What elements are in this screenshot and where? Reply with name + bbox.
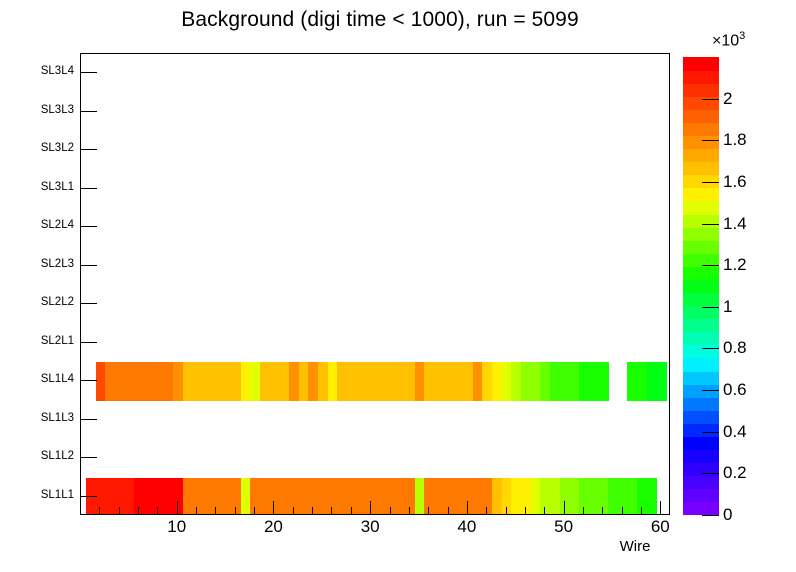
heatmap-cell (250, 362, 260, 401)
heatmap-cell (395, 362, 405, 401)
x-axis-tick (312, 507, 313, 515)
palette-label: 0.8 (723, 339, 747, 356)
palette-label: 1.4 (723, 215, 747, 232)
heatmap-cell (405, 362, 415, 401)
heatmap-cell (231, 362, 241, 401)
root-canvas: Background (digi time < 1000), run = 509… (0, 0, 796, 572)
y-axis-tick (80, 72, 97, 73)
heatmap-row-sl3l4 (81, 54, 669, 93)
x-axis-tick (564, 501, 565, 515)
heatmap-cell (550, 362, 560, 401)
heatmap-cell (279, 362, 289, 401)
y-axis-tick (80, 149, 97, 150)
palette-exponent-label: ×103 (712, 30, 745, 50)
palette-tick (702, 432, 719, 433)
heatmap-row-sl2l1 (81, 324, 669, 363)
x-axis-tick (177, 501, 178, 515)
x-axis-tick (273, 501, 274, 515)
palette-band (683, 279, 719, 293)
heatmap-cell (105, 362, 115, 401)
heatmap-cell (366, 478, 376, 515)
palette-band (683, 57, 719, 71)
palette-band (683, 436, 719, 450)
palette-band (683, 423, 719, 437)
palette-band (683, 227, 719, 241)
y-axis-label-sl2l1: SL2L1 (41, 336, 74, 348)
palette-tick (702, 307, 719, 308)
x-axis-tick (583, 507, 584, 515)
heatmap-cell (260, 478, 270, 515)
x-axis-tick (390, 507, 391, 515)
heatmap-row-sl1l4 (81, 362, 669, 401)
x-axis-tick (370, 501, 371, 515)
heatmap-cell (502, 362, 512, 401)
palette-tick (702, 265, 719, 266)
palette-band (683, 502, 719, 516)
heatmap-cell (618, 478, 628, 515)
palette-band (683, 371, 719, 385)
palette-exponent-power: 3 (739, 30, 745, 42)
heatmap-row-sl3l1 (81, 170, 669, 209)
heatmap-cell (347, 478, 357, 515)
heatmap-cell (647, 478, 657, 515)
palette-band (683, 188, 719, 202)
heatmap-cell (608, 478, 618, 515)
palette-band (683, 293, 719, 307)
heatmap-cell (531, 478, 541, 515)
heatmap-cell (163, 478, 173, 515)
palette-band (683, 489, 719, 503)
palette-tick (702, 390, 719, 391)
page-title: Background (digi time < 1000), run = 509… (0, 8, 760, 32)
y-axis-tick (80, 380, 97, 381)
x-axis-tick (138, 507, 139, 515)
heatmap-cell (299, 362, 309, 401)
palette-band (683, 332, 719, 346)
y-axis-tick (80, 303, 97, 304)
heatmap-cell (569, 362, 579, 401)
heatmap-cell (589, 478, 599, 515)
palette-band (683, 319, 719, 333)
heatmap-cell (511, 478, 521, 515)
x-axis-title: Wire (600, 538, 670, 555)
heatmap-cell (289, 478, 299, 515)
heatmap-cell (250, 478, 260, 515)
heatmap-cell (154, 478, 164, 515)
palette-exponent-base: ×10 (712, 32, 739, 49)
heatmap-cell (144, 478, 154, 515)
heatmap-cell (192, 362, 202, 401)
x-axis-label: 60 (640, 517, 680, 537)
heatmap-cell (154, 362, 164, 401)
heatmap-cell (115, 478, 125, 515)
heatmap-cell (434, 362, 444, 401)
palette-band (683, 201, 719, 215)
palette-tick (702, 99, 719, 100)
palette-band (683, 397, 719, 411)
heatmap-cell (337, 478, 347, 515)
heatmap-cell (212, 478, 222, 515)
heatmap-cell (444, 362, 454, 401)
y-axis-label-sl3l2: SL3L2 (41, 143, 74, 155)
x-axis-label: 50 (544, 517, 584, 537)
heatmap-cell (115, 362, 125, 401)
heatmap-cell (289, 362, 299, 401)
heatmap-cell (482, 478, 492, 515)
heatmap-cell (627, 478, 637, 515)
heatmap-cell (473, 362, 483, 401)
heatmap-cell (105, 478, 115, 515)
heatmap-cell (328, 362, 338, 401)
heatmap-cell (366, 362, 376, 401)
heatmap-cell (357, 478, 367, 515)
x-axis-label: 10 (157, 517, 197, 537)
y-axis-tick (80, 188, 97, 189)
x-axis-tick (157, 507, 158, 515)
heatmap-cell (347, 362, 357, 401)
heatmap-cell (482, 362, 492, 401)
heatmap-row-sl2l4 (81, 208, 669, 247)
x-axis-tick (119, 507, 120, 515)
x-axis-label: 20 (253, 517, 293, 537)
heatmap-cell (173, 478, 183, 515)
palette-tick (702, 182, 719, 183)
heatmap-cell (560, 362, 570, 401)
heatmap-cell (183, 362, 193, 401)
heatmap-cell (415, 478, 425, 515)
x-axis-tick (99, 507, 100, 515)
heatmap-cell (299, 478, 309, 515)
heatmap-row-sl2l2 (81, 285, 669, 324)
x-axis-label: 40 (447, 517, 487, 537)
heatmap-cell (434, 478, 444, 515)
heatmap-cell (424, 478, 434, 515)
heatmap-cell (202, 362, 212, 401)
heatmap-cell (260, 362, 270, 401)
heatmap-cell (531, 362, 541, 401)
x-axis-label: 30 (350, 517, 390, 537)
heatmap-cell (424, 362, 434, 401)
y-axis-label-sl2l2: SL2L2 (41, 297, 74, 309)
palette-label: 1.8 (723, 131, 747, 148)
heatmap-cell (221, 362, 231, 401)
y-axis-tick (80, 496, 97, 497)
palette-label: 1.6 (723, 173, 747, 190)
heatmap-cell (405, 478, 415, 515)
heatmap-cell (502, 478, 512, 515)
palette-band (683, 214, 719, 228)
palette-band (683, 358, 719, 372)
x-axis-tick (641, 507, 642, 515)
heatmap-area (81, 54, 669, 514)
heatmap-cell (173, 362, 183, 401)
palette-band (683, 149, 719, 163)
palette-label: 0 (723, 506, 732, 523)
heatmap-cell (444, 478, 454, 515)
plot-frame (80, 53, 670, 515)
y-axis-tick (80, 457, 97, 458)
palette-band (683, 83, 719, 97)
heatmap-cell (318, 362, 328, 401)
palette-tick (702, 348, 719, 349)
heatmap-cell (540, 478, 550, 515)
y-axis-label-sl2l3: SL2L3 (41, 259, 74, 271)
palette-label: 0.4 (723, 423, 747, 440)
color-palette-bar (683, 57, 719, 515)
heatmap-cell (96, 362, 106, 401)
heatmap-cell (328, 478, 338, 515)
heatmap-cell (492, 362, 502, 401)
heatmap-cell (241, 478, 251, 515)
y-axis-label-sl1l3: SL1L3 (41, 413, 74, 425)
heatmap-cell (521, 478, 531, 515)
palette-band (683, 450, 719, 464)
palette-band (683, 162, 719, 176)
heatmap-cell (627, 362, 637, 401)
palette-band (683, 122, 719, 136)
x-axis-tick (622, 507, 623, 515)
y-axis-tick (80, 111, 97, 112)
heatmap-cell (231, 478, 241, 515)
x-axis-tick (506, 507, 507, 515)
heatmap-cell (415, 362, 425, 401)
heatmap-row-sl1l2 (81, 439, 669, 478)
heatmap-cell (386, 362, 396, 401)
heatmap-cell (579, 478, 589, 515)
y-axis-label-sl2l4: SL2L4 (41, 220, 74, 232)
heatmap-cell (473, 478, 483, 515)
heatmap-cell (212, 362, 222, 401)
heatmap-row-sl1l1 (81, 478, 669, 515)
x-axis-tick (428, 507, 429, 515)
heatmap-cell (318, 478, 328, 515)
y-axis-tick (80, 342, 97, 343)
x-axis-tick (544, 507, 545, 515)
x-axis-tick (351, 507, 352, 515)
x-axis-tick (409, 507, 410, 515)
heatmap-row-sl3l2 (81, 131, 669, 170)
palette-tick (702, 515, 719, 516)
heatmap-cell (202, 478, 212, 515)
heatmap-cell (337, 362, 347, 401)
heatmap-cell (270, 362, 280, 401)
heatmap-cell (550, 478, 560, 515)
heatmap-cell (540, 362, 550, 401)
x-axis-tick (602, 507, 603, 515)
heatmap-cell (221, 478, 231, 515)
y-axis-tick (80, 226, 97, 227)
palette-band (683, 70, 719, 84)
heatmap-row-sl3l3 (81, 93, 669, 132)
palette-band (683, 266, 719, 280)
palette-band (683, 410, 719, 424)
y-axis-label-sl1l2: SL1L2 (41, 451, 74, 463)
y-axis-label-sl1l1: SL1L1 (41, 490, 74, 502)
y-axis-label-sl3l4: SL3L4 (41, 66, 74, 78)
y-axis-tick (80, 265, 97, 266)
heatmap-cell (463, 362, 473, 401)
palette-label: 0.6 (723, 381, 747, 398)
heatmap-cell (598, 362, 608, 401)
palette-label: 2 (723, 90, 732, 107)
x-axis-tick (293, 507, 294, 515)
heatmap-cell (96, 478, 106, 515)
y-axis-label-sl1l4: SL1L4 (41, 374, 74, 386)
palette-label: 0.2 (723, 464, 747, 481)
palette-band (683, 476, 719, 490)
x-axis-tick (448, 507, 449, 515)
x-axis-tick (235, 507, 236, 515)
palette-tick (702, 473, 719, 474)
heatmap-cell (308, 362, 318, 401)
heatmap-cell (492, 478, 502, 515)
heatmap-cell (163, 362, 173, 401)
heatmap-cell (134, 362, 144, 401)
heatmap-cell (386, 478, 396, 515)
heatmap-cell (453, 478, 463, 515)
heatmap-cell (463, 478, 473, 515)
x-axis-tick (486, 507, 487, 515)
palette-band (683, 109, 719, 123)
heatmap-cell (511, 362, 521, 401)
x-axis-tick (196, 507, 197, 515)
x-axis-tick (254, 507, 255, 515)
heatmap-cell (656, 362, 666, 401)
palette-band (683, 345, 719, 359)
x-axis-tick (660, 501, 661, 515)
heatmap-row-sl2l3 (81, 247, 669, 286)
x-axis-tick (525, 507, 526, 515)
heatmap-cell (637, 362, 647, 401)
heatmap-cell (579, 362, 589, 401)
heatmap-cell (453, 362, 463, 401)
heatmap-cell (144, 362, 154, 401)
palette-tick (702, 140, 719, 141)
heatmap-cell (192, 478, 202, 515)
heatmap-cell (376, 478, 386, 515)
palette-label: 1.2 (723, 256, 747, 273)
x-axis-tick (467, 501, 468, 515)
heatmap-cell (134, 478, 144, 515)
heatmap-cell (125, 478, 135, 515)
heatmap-cell (569, 478, 579, 515)
heatmap-cell (183, 478, 193, 515)
palette-label: 1 (723, 298, 732, 315)
heatmap-cell (279, 478, 289, 515)
heatmap-cell (357, 362, 367, 401)
palette-tick (702, 224, 719, 225)
heatmap-cell (241, 362, 251, 401)
y-axis-tick (80, 419, 97, 420)
heatmap-cell (598, 478, 608, 515)
heatmap-cell (376, 362, 386, 401)
heatmap-cell (560, 478, 570, 515)
y-axis-label-sl3l1: SL3L1 (41, 182, 74, 194)
heatmap-cell (125, 362, 135, 401)
heatmap-cell (647, 362, 657, 401)
palette-band (683, 136, 719, 150)
heatmap-cell (589, 362, 599, 401)
heatmap-cell (637, 478, 647, 515)
heatmap-cell (270, 478, 280, 515)
palette-band (683, 240, 719, 254)
heatmap-cell (521, 362, 531, 401)
y-axis-label-sl3l3: SL3L3 (41, 105, 74, 117)
heatmap-cell (395, 478, 405, 515)
x-axis-tick (215, 507, 216, 515)
heatmap-row-sl1l3 (81, 401, 669, 440)
x-axis-tick (331, 507, 332, 515)
heatmap-cell (308, 478, 318, 515)
